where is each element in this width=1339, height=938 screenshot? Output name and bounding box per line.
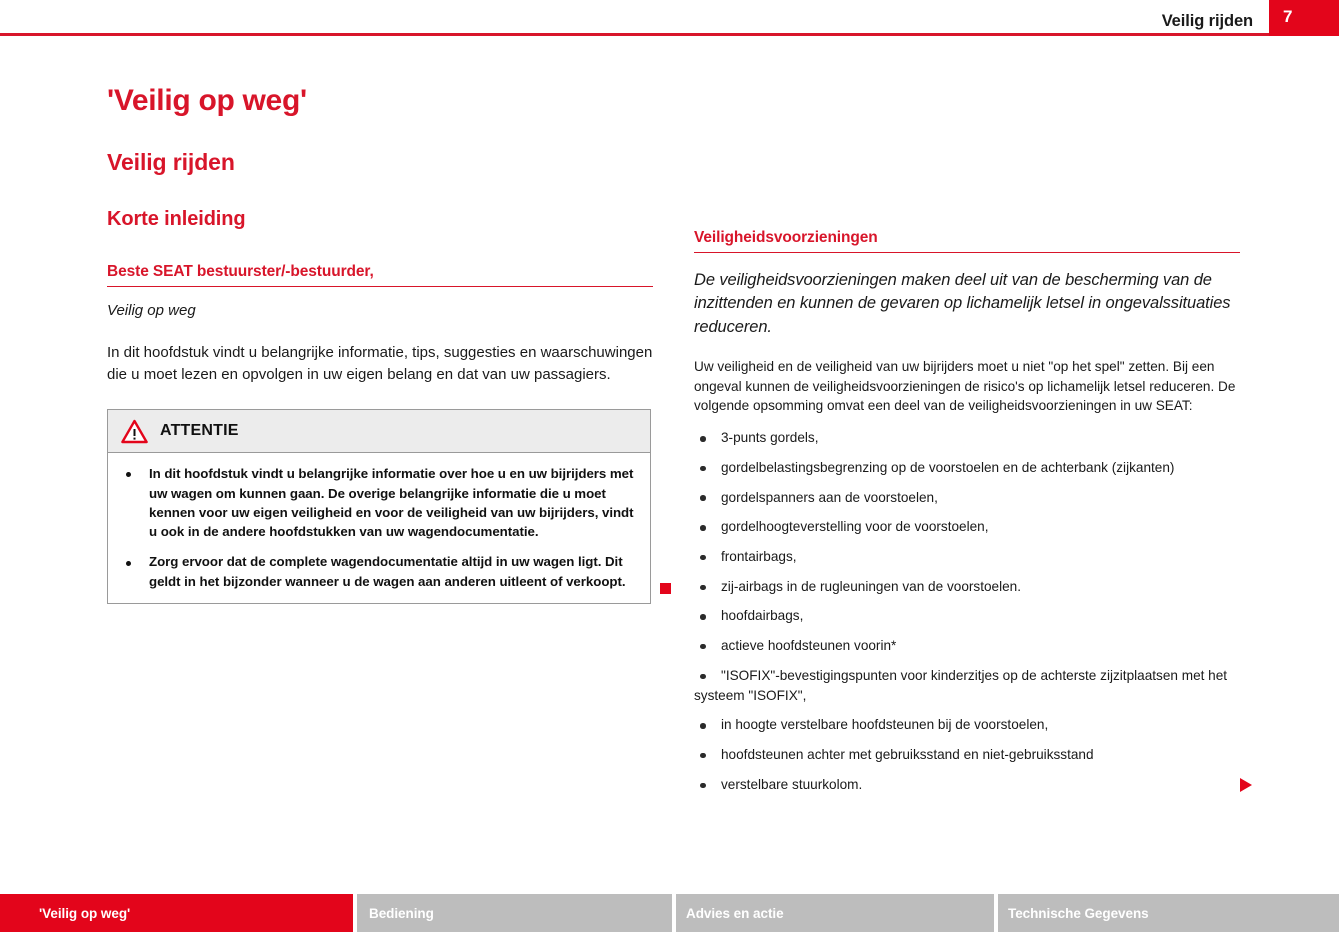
page-header: Veilig rijden 7 — [0, 0, 1339, 42]
attention-item-text: Zorg ervoor dat de complete wagendocumen… — [149, 554, 625, 588]
page-number-block: 7 — [1269, 0, 1339, 36]
list-item: gordelhoogteverstelling voor de voorstoe… — [694, 517, 1240, 537]
section-title: Korte inleiding — [107, 175, 653, 230]
bullet-dot-icon — [700, 436, 706, 442]
footer-tab-veilig-op-weg[interactable]: 'Veilig op weg' — [0, 894, 353, 932]
next-page-arrow-icon — [1240, 778, 1252, 792]
list-item-text: "ISOFIX"-bevestigingspunten voor kinderz… — [694, 668, 1227, 703]
attention-header: ATTENTIE — [108, 410, 650, 453]
footer-tab-advies-en-actie[interactable]: Advies en actie — [676, 894, 994, 932]
bullet-dot-icon — [700, 495, 706, 501]
list-item: verstelbare stuurkolom. — [694, 775, 1240, 795]
footer-tab-technische-gegevens[interactable]: Technische Gegevens — [998, 894, 1339, 932]
bullet-dot-icon — [126, 472, 131, 477]
list-item-text: hoofdairbags, — [721, 608, 803, 623]
bullet-dot-icon — [700, 644, 706, 650]
attention-body: In dit hoofdstuk vindt u belangrijke inf… — [108, 453, 650, 603]
footer-tab-label: Technische Gegevens — [1008, 906, 1149, 921]
section-end-marker-icon — [660, 583, 671, 594]
safety-paragraph: Uw veiligheid en de veiligheid van uw bi… — [694, 339, 1240, 416]
list-item: "ISOFIX"-bevestigingspunten voor kinderz… — [694, 666, 1240, 705]
page-content: 'Veilig op weg' Veilig rijden Korte inle… — [0, 42, 1339, 882]
list-item-text: gordelbelastingsbegrenzing op de voorsto… — [694, 460, 1174, 475]
left-column: 'Veilig op weg' Veilig rijden Korte inle… — [107, 42, 653, 604]
chapter-title: Veilig rijden — [107, 117, 653, 175]
attention-label: ATTENTIE — [160, 422, 239, 440]
right-column: Veiligheidsvoorzieningen De veiligheidsv… — [694, 42, 1240, 804]
footer-tab-label: 'Veilig op weg' — [39, 906, 130, 921]
list-item-text: hoofdsteunen achter met gebruiksstand en… — [721, 747, 1094, 762]
list-item: actieve hoofdsteunen voorin* — [694, 636, 1240, 656]
list-item: gordelbelastingsbegrenzing op de voorsto… — [694, 458, 1240, 478]
list-item-text: frontairbags, — [721, 549, 797, 564]
bullet-dot-icon — [700, 723, 706, 729]
list-item-text: zij-airbags in de rugleuningen van de vo… — [721, 579, 1021, 594]
list-item: hoofdairbags, — [694, 606, 1240, 626]
list-item: in hoogte verstelbare hoofdsteunen bij d… — [694, 715, 1240, 735]
list-item: 3-punts gordels, — [694, 428, 1240, 448]
footer-tab-label: Advies en actie — [686, 906, 784, 921]
bullet-dot-icon — [700, 614, 706, 620]
list-item-text: in hoogte verstelbare hoofdsteunen bij d… — [721, 717, 1048, 732]
attention-item: In dit hoofdstuk vindt u belangrijke inf… — [121, 464, 636, 541]
safety-feature-list: 3-punts gordels, gordelbelastingsbegrenz… — [694, 416, 1240, 794]
list-item-text: actieve hoofdsteunen voorin* — [721, 638, 896, 653]
attention-item-text: In dit hoofdstuk vindt u belangrijke inf… — [149, 466, 634, 539]
document-title: 'Veilig op weg' — [107, 42, 653, 117]
subsection-title-greeting: Beste SEAT bestuurster/-bestuurder, — [107, 263, 653, 287]
attention-item: Zorg ervoor dat de complete wagendocumen… — [121, 552, 636, 591]
bullet-dot-icon — [700, 525, 706, 531]
list-item: gordelspanners aan de voorstoelen, — [694, 488, 1240, 508]
header-chapter-title: Veilig rijden — [1162, 12, 1253, 31]
safety-italic-summary: De veiligheidsvoorzieningen maken deel u… — [694, 253, 1240, 339]
bullet-dot-icon — [700, 753, 706, 759]
list-item: hoofdsteunen achter met gebruiksstand en… — [694, 745, 1240, 765]
attention-callout-box: ATTENTIE In dit hoofdstuk vindt u belang… — [107, 409, 651, 604]
bullet-dot-icon — [700, 585, 706, 591]
intro-paragraph: In dit hoofdstuk vindt u belangrijke inf… — [107, 322, 653, 386]
header-divider-rule — [0, 33, 1269, 36]
warning-triangle-icon — [121, 419, 148, 444]
bullet-dot-icon — [700, 466, 706, 472]
lead-italic-text: Veilig op weg — [107, 287, 653, 322]
list-item-text: gordelspanners aan de voorstoelen, — [721, 490, 938, 505]
footer-tab-label: Bediening — [369, 906, 434, 921]
bullet-dot-icon — [126, 561, 131, 566]
list-item: zij-airbags in de rugleuningen van de vo… — [694, 577, 1240, 597]
bullet-dot-icon — [700, 555, 706, 561]
bullet-dot-icon — [700, 783, 706, 789]
bullet-dot-icon — [700, 674, 706, 680]
list-item-text: verstelbare stuurkolom. — [721, 777, 862, 792]
page-number: 7 — [1283, 7, 1292, 27]
footer-tab-bar: 'Veilig op weg' Bediening Advies en acti… — [0, 894, 1339, 932]
list-item: frontairbags, — [694, 547, 1240, 567]
list-item-text: 3-punts gordels, — [721, 430, 818, 445]
subsection-title-safety-features: Veiligheidsvoorzieningen — [694, 229, 1240, 253]
list-item-text: gordelhoogteverstelling voor de voorstoe… — [721, 519, 989, 534]
footer-tab-bediening[interactable]: Bediening — [357, 894, 672, 932]
